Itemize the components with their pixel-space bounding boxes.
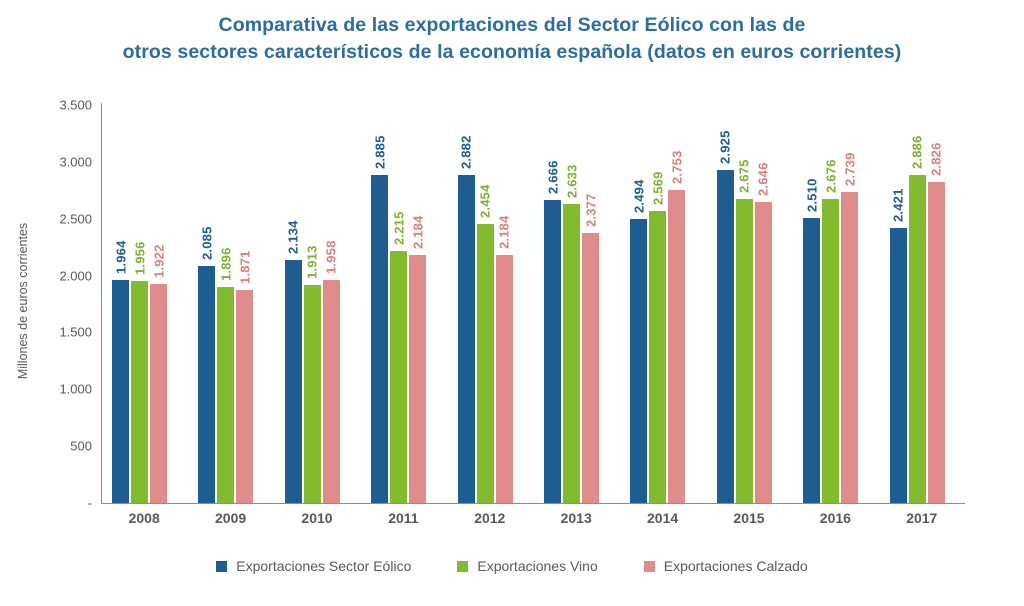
bar-2014-series-1[interactable]	[649, 211, 666, 503]
x-axis-tick-2014: 2014	[619, 510, 705, 526]
bar-2011-series-0[interactable]	[371, 175, 388, 503]
x-axis-tick-2013: 2013	[533, 510, 619, 526]
bar-group-2011: 2.8852.2152.184	[360, 105, 446, 503]
bar-2009-series-0[interactable]	[198, 266, 215, 503]
legend-swatch-icon-0	[216, 561, 227, 572]
bar-2016-series-0[interactable]	[803, 218, 820, 503]
bar-group-2008: 1.9641.9561.922	[101, 105, 187, 503]
legend-label-2: Exportaciones Calzado	[664, 558, 808, 574]
bar-group-2014: 2.4942.5692.753	[619, 105, 705, 503]
bar-2017-series-1[interactable]	[909, 175, 926, 503]
bar-2013-series-2[interactable]	[582, 233, 599, 503]
legend-item-0[interactable]: Exportaciones Sector Eólico	[216, 558, 411, 574]
bar-2008-series-2[interactable]	[150, 284, 167, 503]
bar-group-2013: 2.6662.6332.377	[533, 105, 619, 503]
bar-2011-series-1[interactable]	[390, 251, 407, 503]
bar-2014-series-0[interactable]	[630, 219, 647, 503]
bar-2009-series-1[interactable]	[217, 287, 234, 503]
bar-2012-series-1[interactable]	[477, 224, 494, 503]
legend-label-0: Exportaciones Sector Eólico	[236, 558, 411, 574]
bar-2015-series-2[interactable]	[755, 202, 772, 503]
chart-title-line-2: otros sectores característicos de la eco…	[0, 39, 1024, 66]
bar-2017-series-2[interactable]	[928, 182, 945, 503]
bar-2014-series-2[interactable]	[668, 190, 685, 503]
bar-2012-series-2[interactable]	[496, 255, 513, 503]
x-axis-line	[101, 503, 965, 504]
bar-2016-series-2[interactable]	[841, 192, 858, 503]
chart-title: Comparativa de las exportaciones del Sec…	[0, 12, 1024, 66]
y-axis-tick-3000: 3.000	[15, 154, 101, 169]
y-axis-tick-500: 500	[15, 439, 101, 454]
y-axis-tick-2500: 2.500	[15, 211, 101, 226]
x-axis-tick-2009: 2009	[187, 510, 273, 526]
y-axis-tick-3500: 3.500	[15, 98, 101, 113]
x-axis-tick-2010: 2010	[274, 510, 360, 526]
chart-legend: Exportaciones Sector EólicoExportaciones…	[0, 558, 1024, 574]
bar-2013-series-0[interactable]	[544, 200, 561, 503]
bar-2008-series-0[interactable]	[112, 280, 129, 503]
bar-group-2015: 2.9252.6752.646	[706, 105, 792, 503]
bar-group-2012: 2.8822.4542.184	[447, 105, 533, 503]
y-axis-tick-0: -	[15, 496, 101, 511]
bar-2011-series-2[interactable]	[409, 255, 426, 503]
x-axis-tick-2008: 2008	[101, 510, 187, 526]
chart-title-line-1: Comparativa de las exportaciones del Sec…	[0, 12, 1024, 39]
y-axis-tick-labels: 3.5003.0002.5002.0001.5001.000500-	[0, 0, 101, 606]
bar-group-2009: 2.0851.8961.871	[187, 105, 273, 503]
x-axis-tick-2017: 2017	[879, 510, 965, 526]
bar-group-2017: 2.4212.8862.826	[879, 105, 965, 503]
legend-item-2[interactable]: Exportaciones Calzado	[644, 558, 808, 574]
x-axis-tick-2016: 2016	[792, 510, 878, 526]
legend-swatch-icon-2	[644, 561, 655, 572]
legend-swatch-icon-1	[457, 561, 468, 572]
legend-label-1: Exportaciones Vino	[477, 558, 597, 574]
bar-group-2010: 2.1341.9131.958	[274, 105, 360, 503]
y-axis-tick-1000: 1.000	[15, 382, 101, 397]
bar-group-2016: 2.5102.6762.739	[792, 105, 878, 503]
bar-2016-series-1[interactable]	[822, 199, 839, 503]
x-axis-tick-2011: 2011	[360, 510, 446, 526]
y-axis-tick-2000: 2.000	[15, 268, 101, 283]
legend-item-1[interactable]: Exportaciones Vino	[457, 558, 597, 574]
x-axis-tick-2015: 2015	[706, 510, 792, 526]
x-axis-tick-2012: 2012	[447, 510, 533, 526]
bar-2008-series-1[interactable]	[131, 281, 148, 503]
y-axis-tick-1500: 1.500	[15, 325, 101, 340]
bar-2009-series-2[interactable]	[236, 290, 253, 503]
bar-2013-series-1[interactable]	[563, 204, 580, 503]
bar-2010-series-2[interactable]	[323, 280, 340, 503]
bar-2015-series-0[interactable]	[717, 170, 734, 503]
bar-2010-series-0[interactable]	[285, 260, 302, 503]
x-axis-tick-labels: 2008200920102011201220132014201520162017	[101, 510, 965, 536]
bar-2010-series-1[interactable]	[304, 285, 321, 503]
bar-2015-series-1[interactable]	[736, 199, 753, 503]
bar-2017-series-0[interactable]	[890, 228, 907, 503]
bars-layer: 1.9641.9561.9222.0851.8961.8712.1341.913…	[101, 105, 965, 503]
bar-2012-series-0[interactable]	[458, 175, 475, 503]
